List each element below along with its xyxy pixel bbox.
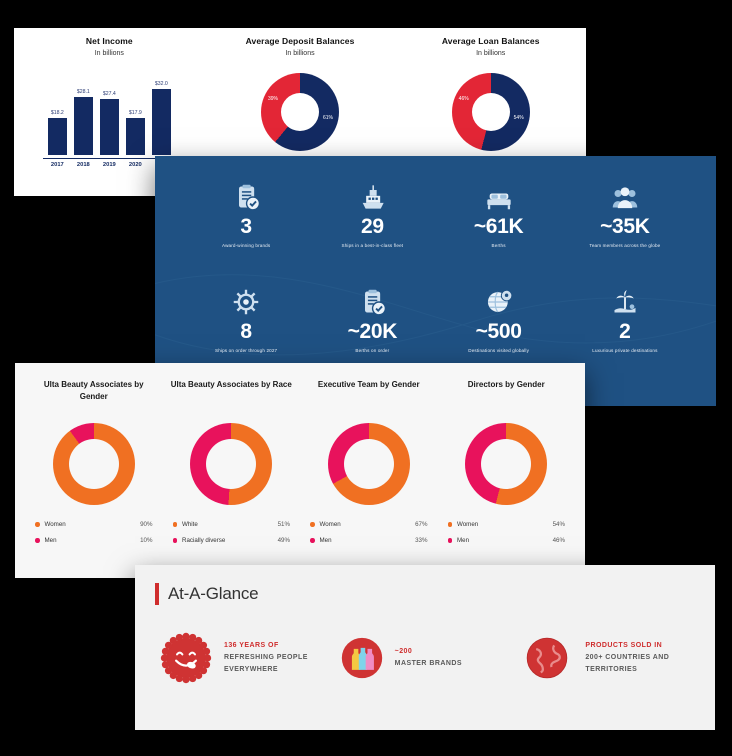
stat-item: 8Ships on order through 2027 xyxy=(183,287,309,392)
bar-year-label: 2020 xyxy=(126,162,145,168)
glance-header: At-A-Glance xyxy=(135,565,715,605)
legend-item: Women54% xyxy=(444,521,570,528)
bar-year-label: 2018 xyxy=(74,162,93,168)
bar-item: $17.9 xyxy=(126,75,145,155)
stat-caption: Berths xyxy=(436,243,562,248)
glance-text: PRODUCTS SOLD IN200+ COUNTRIES ANDTERRIT… xyxy=(585,640,669,677)
loans-title: Average Loan Balances xyxy=(401,36,580,46)
glance-item: ~200MASTER BRANDS xyxy=(340,636,511,680)
stat-caption: Team members across the globe xyxy=(562,243,688,248)
donut-chart xyxy=(328,423,410,505)
legend-value: 51% xyxy=(278,521,290,528)
stat-number: ~500 xyxy=(436,321,562,342)
stat-caption: Award-winning brands xyxy=(183,243,309,248)
people-group-icon xyxy=(562,182,688,212)
ulta-chart: Ulta Beauty Associates by RaceWhite51%Ra… xyxy=(163,379,301,578)
bed-icon xyxy=(436,182,562,212)
donut-chart xyxy=(53,423,135,505)
legend-label: Women xyxy=(320,521,341,528)
donut-chart xyxy=(465,423,547,505)
legend-item: Men33% xyxy=(306,537,432,544)
legend-value: 33% xyxy=(415,537,427,544)
stat-number: 8 xyxy=(183,321,309,342)
deposits-slice2-pct: 39% xyxy=(268,96,278,102)
stat-item: ~35KTeam members across the globe xyxy=(562,182,688,287)
chart-legend: White51%Racially diverse49% xyxy=(169,521,295,544)
loans-slice1-pct: 54% xyxy=(514,115,524,121)
legend-color-dot xyxy=(35,522,40,527)
bar-item: $27.4 xyxy=(100,75,119,155)
stat-item: ~61KBerths xyxy=(436,182,562,287)
bar-value-label: $27.4 xyxy=(103,91,116,97)
glance-line: EVERYWHERE xyxy=(224,664,308,676)
clipboard-check-icon xyxy=(183,182,309,212)
legend-color-dot xyxy=(35,538,40,543)
legend-label: Women xyxy=(457,521,478,528)
legend-item: Women67% xyxy=(306,521,432,528)
legend-color-dot xyxy=(448,522,453,527)
chart-legend: Women54%Men46% xyxy=(444,521,570,544)
stat-number: ~61K xyxy=(436,216,562,237)
globe-icon xyxy=(520,631,574,685)
glance-highlight: PRODUCTS SOLD IN xyxy=(585,640,669,652)
chart-title: Ulta Beauty Associates by Gender xyxy=(31,379,157,405)
glance-line: 200+ COUNTRIES AND xyxy=(585,652,669,664)
bar xyxy=(74,97,93,155)
legend-value: 67% xyxy=(415,521,427,528)
legend-label: Women xyxy=(45,521,66,528)
ulta-chart: Executive Team by GenderWomen67%Men33% xyxy=(300,379,438,578)
loans-subtitle: In billions xyxy=(401,50,580,57)
legend-label: Men xyxy=(45,537,57,544)
bar-item: $32.0 xyxy=(152,75,171,155)
legend-color-dot xyxy=(448,538,453,543)
globe-pin-icon xyxy=(436,287,562,317)
stat-caption: Ships in a best-in-class fleet xyxy=(309,243,435,248)
bar xyxy=(152,89,171,155)
stat-item: ~20KBerths on order xyxy=(309,287,435,392)
stat-number: 2 xyxy=(562,321,688,342)
legend-value: 49% xyxy=(278,537,290,544)
bar-year-label: 2019 xyxy=(100,162,119,168)
legend-item: Men46% xyxy=(444,537,570,544)
glance-line: REFRESHING PEOPLE xyxy=(224,652,308,664)
clipboard-check-icon xyxy=(309,287,435,317)
stat-number: 3 xyxy=(183,216,309,237)
net-income-bars: $18.2$28.1$27.4$17.9$32.0 xyxy=(20,75,199,155)
bar-item: $18.2 xyxy=(48,75,67,155)
smiling-sun-face-icon xyxy=(159,631,213,685)
legend-item: Women90% xyxy=(31,521,157,528)
legend-color-dot xyxy=(173,538,178,543)
bar xyxy=(48,118,67,155)
bar-year-label: 2017 xyxy=(48,162,67,168)
stat-item: ~500Destinations visited globally xyxy=(436,287,562,392)
company-stats-card: 3Award-winning brands29Ships in a best-i… xyxy=(155,156,716,406)
glance-text: ~200MASTER BRANDS xyxy=(395,646,462,671)
glance-highlight: ~200 xyxy=(395,646,462,658)
stat-caption: Berths on order xyxy=(309,348,435,353)
stat-number: ~20K xyxy=(309,321,435,342)
legend-label: Men xyxy=(320,537,332,544)
page-title: At-A-Glance xyxy=(168,584,258,604)
bar xyxy=(100,99,119,155)
stat-item: 2Luxurious private destinations xyxy=(562,287,688,392)
bar-item: $28.1 xyxy=(74,75,93,155)
loans-slice2-pct: 46% xyxy=(459,96,469,102)
deposits-slice1-pct: 61% xyxy=(323,115,333,121)
chart-legend: Women67%Men33% xyxy=(306,521,432,544)
ulta-chart: Directors by GenderWomen54%Men46% xyxy=(438,379,576,578)
net-income-subtitle: In billions xyxy=(20,50,199,57)
glance-line: TERRITORIES xyxy=(585,664,669,676)
legend-value: 54% xyxy=(553,521,565,528)
legend-color-dot xyxy=(310,538,315,543)
legend-value: 46% xyxy=(553,537,565,544)
bar-value-label: $32.0 xyxy=(155,81,168,87)
glance-highlight: 136 YEARS OF xyxy=(224,640,308,652)
glance-text: 136 YEARS OFREFRESHING PEOPLEEVERYWHERE xyxy=(224,640,308,677)
glance-line: MASTER BRANDS xyxy=(395,658,462,670)
net-income-title: Net Income xyxy=(20,36,199,46)
bar xyxy=(126,118,145,155)
stat-caption: Destinations visited globally xyxy=(436,348,562,353)
deposits-subtitle: In billions xyxy=(211,50,390,57)
legend-item: Racially diverse49% xyxy=(169,537,295,544)
glance-item: PRODUCTS SOLD IN200+ COUNTRIES ANDTERRIT… xyxy=(520,631,691,685)
legend-label: White xyxy=(182,521,198,528)
stat-caption: Luxurious private destinations xyxy=(562,348,688,353)
legend-value: 90% xyxy=(140,521,152,528)
stat-caption: Ships on order through 2027 xyxy=(183,348,309,353)
at-a-glance-card: At-A-Glance 136 YEARS OFREFRESHING PEOPL… xyxy=(135,565,715,730)
legend-value: 10% xyxy=(140,537,152,544)
ship-icon xyxy=(309,182,435,212)
deposits-donut: 61% 39% xyxy=(261,73,339,151)
bar-value-label: $28.1 xyxy=(77,89,90,95)
stat-item: 29Ships in a best-in-class fleet xyxy=(309,182,435,287)
ship-wheel-icon xyxy=(183,287,309,317)
deposits-title: Average Deposit Balances xyxy=(211,36,390,46)
bar-value-label: $17.9 xyxy=(129,110,142,116)
legend-label: Racially diverse xyxy=(182,537,225,544)
ulta-chart: Ulta Beauty Associates by GenderWomen90%… xyxy=(25,379,163,578)
legend-item: Men10% xyxy=(31,537,157,544)
accent-bar xyxy=(155,583,159,605)
chart-legend: Women90%Men10% xyxy=(31,521,157,544)
palm-island-icon xyxy=(562,287,688,317)
legend-item: White51% xyxy=(169,521,295,528)
glance-item: 136 YEARS OFREFRESHING PEOPLEEVERYWHERE xyxy=(159,631,330,685)
loans-donut: 54% 46% xyxy=(452,73,530,151)
stat-number: ~35K xyxy=(562,216,688,237)
bottles-icon xyxy=(340,636,384,680)
legend-color-dot xyxy=(173,522,178,527)
stat-number: 29 xyxy=(309,216,435,237)
stat-item: 3Award-winning brands xyxy=(183,182,309,287)
legend-label: Men xyxy=(457,537,469,544)
legend-color-dot xyxy=(310,522,315,527)
bar-value-label: $18.2 xyxy=(51,110,64,116)
donut-chart xyxy=(190,423,272,505)
